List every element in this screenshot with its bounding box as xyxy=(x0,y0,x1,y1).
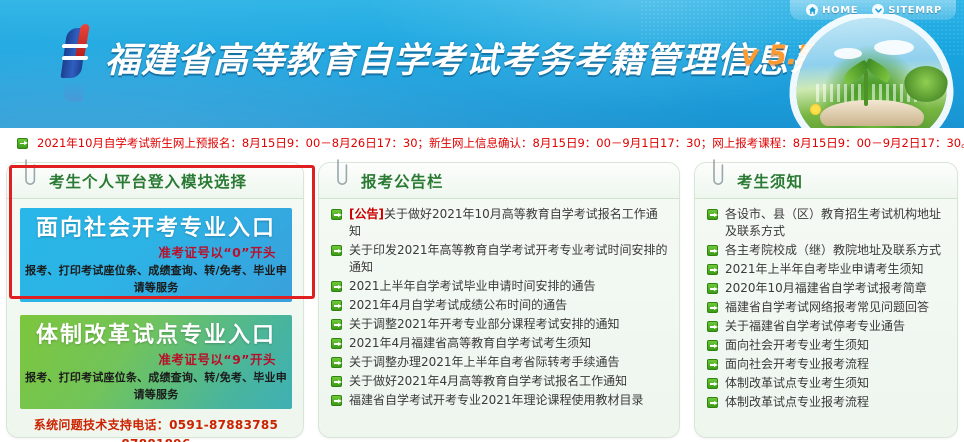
notice-item-link[interactable]: 2020年10月福建省自学考试报考简章 xyxy=(725,280,927,297)
green-arrow-bullet-icon xyxy=(331,357,342,368)
green-arrow-bullet-icon xyxy=(17,138,28,149)
announcement-ticker-text: 2021年10月自学考试新生网上预报名：8月15日9：00－8月26日17：30… xyxy=(37,135,964,151)
entry-social-exam-subtitle: 准考证号以“0”开头 xyxy=(20,243,292,262)
list-item[interactable]: [公告]关于做好2021年10月高等教育自学考试报名工作通知 xyxy=(331,206,669,240)
list-item[interactable]: 2021年4月自学考试成绩公布时间的通告 xyxy=(331,297,669,314)
announcement-list: [公告]关于做好2021年10月高等教育自学考试报名工作通知关于印发2021年高… xyxy=(319,199,679,417)
candidate-notice-panel-header: 考生须知 xyxy=(695,163,957,199)
notice-item-link[interactable]: 体制改革试点专业考生须知 xyxy=(725,375,869,392)
announcement-panel: 报考公告栏 [公告]关于做好2021年10月高等教育自学考试报名工作通知关于印发… xyxy=(318,162,680,438)
entry-social-exam-button[interactable]: 面向社会开考专业入口 准考证号以“0”开头 报考、打印考试座位条、成绩查询、转/… xyxy=(20,208,292,302)
login-module-panel-header: 考生个人平台登入模块选择 xyxy=(7,163,303,199)
candidate-notice-panel-title: 考生须知 xyxy=(737,170,803,192)
announcement-item-link[interactable]: 关于做好2021年4月高等教育自学考试报名工作通知 xyxy=(349,373,627,390)
green-arrow-bullet-icon xyxy=(707,340,718,351)
green-arrow-bullet-icon xyxy=(331,300,342,311)
green-arrow-bullet-icon xyxy=(331,319,342,330)
notice-item-link[interactable]: 各设市、县（区）教育招生考试机构地址及联系方式 xyxy=(725,206,947,240)
candidate-notice-panel: 考生须知 各设市、县（区）教育招生考试机构地址及联系方式各主考院校成（继）教院地… xyxy=(694,162,958,438)
notice-item-link[interactable]: 面向社会开考专业考生须知 xyxy=(725,337,869,354)
list-item[interactable]: 关于印发2021年高等教育自学考试开考专业考试时间安排的通知 xyxy=(331,242,669,276)
announcement-panel-title: 报考公告栏 xyxy=(361,170,444,192)
notice-item-link[interactable]: 福建省自学考试网络报考常见问题回答 xyxy=(725,299,929,316)
list-item[interactable]: 关于调整办理2021年上半年自考省际转考手续通告 xyxy=(331,354,669,371)
paperclip-icon xyxy=(20,158,40,192)
entry-reform-pilot-subtitle: 准考证号以“9”开头 xyxy=(20,350,292,369)
list-item[interactable]: 关于调整2021年开考专业部分课程考试安排的通知 xyxy=(331,316,669,333)
green-arrow-bullet-icon xyxy=(331,395,342,406)
green-arrow-bullet-icon xyxy=(331,338,342,349)
list-item[interactable]: 面向社会开考专业考生须知 xyxy=(707,337,947,354)
notice-item-link[interactable]: 2021年上半年自考毕业申请考生须知 xyxy=(725,261,924,278)
page-root: HOME SITEMRP 福建省高等教育自学考试考务考籍管理信息系统 v 5.5 xyxy=(0,0,964,442)
notice-item-link[interactable]: 面向社会开考专业报考流程 xyxy=(725,356,869,373)
announcement-item-link[interactable]: 关于调整办理2021年上半年自考省际转考手续通告 xyxy=(349,354,620,371)
announcement-item-link[interactable]: [公告]关于做好2021年10月高等教育自学考试报名工作通知 xyxy=(349,206,669,240)
green-arrow-bullet-icon xyxy=(331,376,342,387)
list-item[interactable]: 福建省自学考试开考专业2021年理论课程使用教材目录 xyxy=(331,392,669,409)
support-phone-line: 系统问题技术支持电话：0591-87883785 87881896 xyxy=(19,416,293,442)
paperclip-icon xyxy=(708,158,728,192)
green-arrow-bullet-icon xyxy=(707,378,718,389)
candidate-notice-list: 各设市、县（区）教育招生考试机构地址及联系方式各主考院校成（继）教院地址及联系方… xyxy=(695,199,957,419)
entry-reform-pilot-button[interactable]: 体制改革试点专业入口 准考证号以“9”开头 报考、打印考试座位条、成绩查询、转/… xyxy=(20,315,292,409)
green-arrow-bullet-icon xyxy=(707,245,718,256)
list-item[interactable]: 2021年4月福建省高等教育自学考试考生须知 xyxy=(331,335,669,352)
list-item[interactable]: 各主考院校成（继）教院地址及联系方式 xyxy=(707,242,947,259)
notice-item-link[interactable]: 体制改革试点专业报考流程 xyxy=(725,394,869,411)
list-item[interactable]: 关于做好2021年4月高等教育自学考试报名工作通知 xyxy=(331,373,669,390)
green-arrow-bullet-icon xyxy=(707,359,718,370)
green-arrow-bullet-icon xyxy=(331,281,342,292)
announcement-item-link[interactable]: 关于调整2021年开考专业部分课程考试安排的通知 xyxy=(349,316,620,333)
institution-logo-icon xyxy=(52,24,110,102)
green-arrow-bullet-icon xyxy=(707,209,718,220)
green-arrow-bullet-icon xyxy=(331,245,342,256)
entry-reform-pilot-title: 体制改革试点专业入口 xyxy=(20,322,292,350)
announcement-item-link[interactable]: 关于印发2021年高等教育自学考试开考专业考试时间安排的通知 xyxy=(349,242,669,276)
list-item[interactable]: 2021上半年自学考试毕业申请时间安排的通告 xyxy=(331,278,669,295)
paperclip-icon xyxy=(332,158,352,192)
green-arrow-bullet-icon xyxy=(707,264,718,275)
notice-item-link[interactable]: 关于福建省自学考试停考专业通告 xyxy=(725,318,905,335)
list-item[interactable]: 2021年上半年自考毕业申请考生须知 xyxy=(707,261,947,278)
login-module-panel-body: 面向社会开考专业入口 准考证号以“0”开头 报考、打印考试座位条、成绩查询、转/… xyxy=(7,199,303,442)
site-banner: HOME SITEMRP 福建省高等教育自学考试考务考籍管理信息系统 v 5.5 xyxy=(0,0,964,128)
green-arrow-bullet-icon xyxy=(707,397,718,408)
green-arrow-bullet-icon xyxy=(331,209,342,220)
entry-social-exam-description: 报考、打印考试座位条、成绩查询、转/免考、毕业申请等服务 xyxy=(20,262,292,296)
green-arrow-bullet-icon xyxy=(707,321,718,332)
notice-item-link[interactable]: 各主考院校成（继）教院地址及联系方式 xyxy=(725,242,941,259)
entry-social-exam-title: 面向社会开考专业入口 xyxy=(20,215,292,243)
list-item[interactable]: 体制改革试点专业考生须知 xyxy=(707,375,947,392)
list-item[interactable]: 2020年10月福建省自学考试报考简章 xyxy=(707,280,947,297)
list-item[interactable]: 福建省自学考试网络报考常见问题回答 xyxy=(707,299,947,316)
announcement-panel-header: 报考公告栏 xyxy=(319,163,679,199)
heart-sprout-book-illustration xyxy=(778,14,964,128)
login-module-panel-title: 考生个人平台登入模块选择 xyxy=(49,170,247,192)
list-item[interactable]: 各设市、县（区）教育招生考试机构地址及联系方式 xyxy=(707,206,947,240)
login-module-panel: 考生个人平台登入模块选择 面向社会开考专业入口 准考证号以“0”开头 报考、打印… xyxy=(6,162,304,438)
green-arrow-bullet-icon xyxy=(707,302,718,313)
list-item[interactable]: 关于福建省自学考试停考专业通告 xyxy=(707,318,947,335)
list-item[interactable]: 体制改革试点专业报考流程 xyxy=(707,394,947,411)
support-info: 系统问题技术支持电话：0591-87883785 87881896 政策问题咨询… xyxy=(19,416,293,442)
announcement-item-link[interactable]: 2021年4月自学考试成绩公布时间的通告 xyxy=(349,297,567,314)
announcement-item-link[interactable]: 2021年4月福建省高等教育自学考试考生须知 xyxy=(349,335,591,352)
announcement-tag: [公告] xyxy=(349,207,384,221)
announcement-item-link[interactable]: 福建省自学考试开考专业2021年理论课程使用教材目录 xyxy=(349,392,644,409)
list-item[interactable]: 面向社会开考专业报考流程 xyxy=(707,356,947,373)
entry-reform-pilot-description: 报考、打印考试座位条、成绩查询、转/免考、毕业申请等服务 xyxy=(20,369,292,403)
announcement-item-link[interactable]: 2021上半年自学考试毕业申请时间安排的通告 xyxy=(349,278,596,295)
announcement-ticker: 2021年10月自学考试新生网上预报名：8月15日9：00－8月26日17：30… xyxy=(0,128,964,158)
green-arrow-bullet-icon xyxy=(707,283,718,294)
content-columns: 考生个人平台登入模块选择 面向社会开考专业入口 准考证号以“0”开头 报考、打印… xyxy=(0,158,964,442)
